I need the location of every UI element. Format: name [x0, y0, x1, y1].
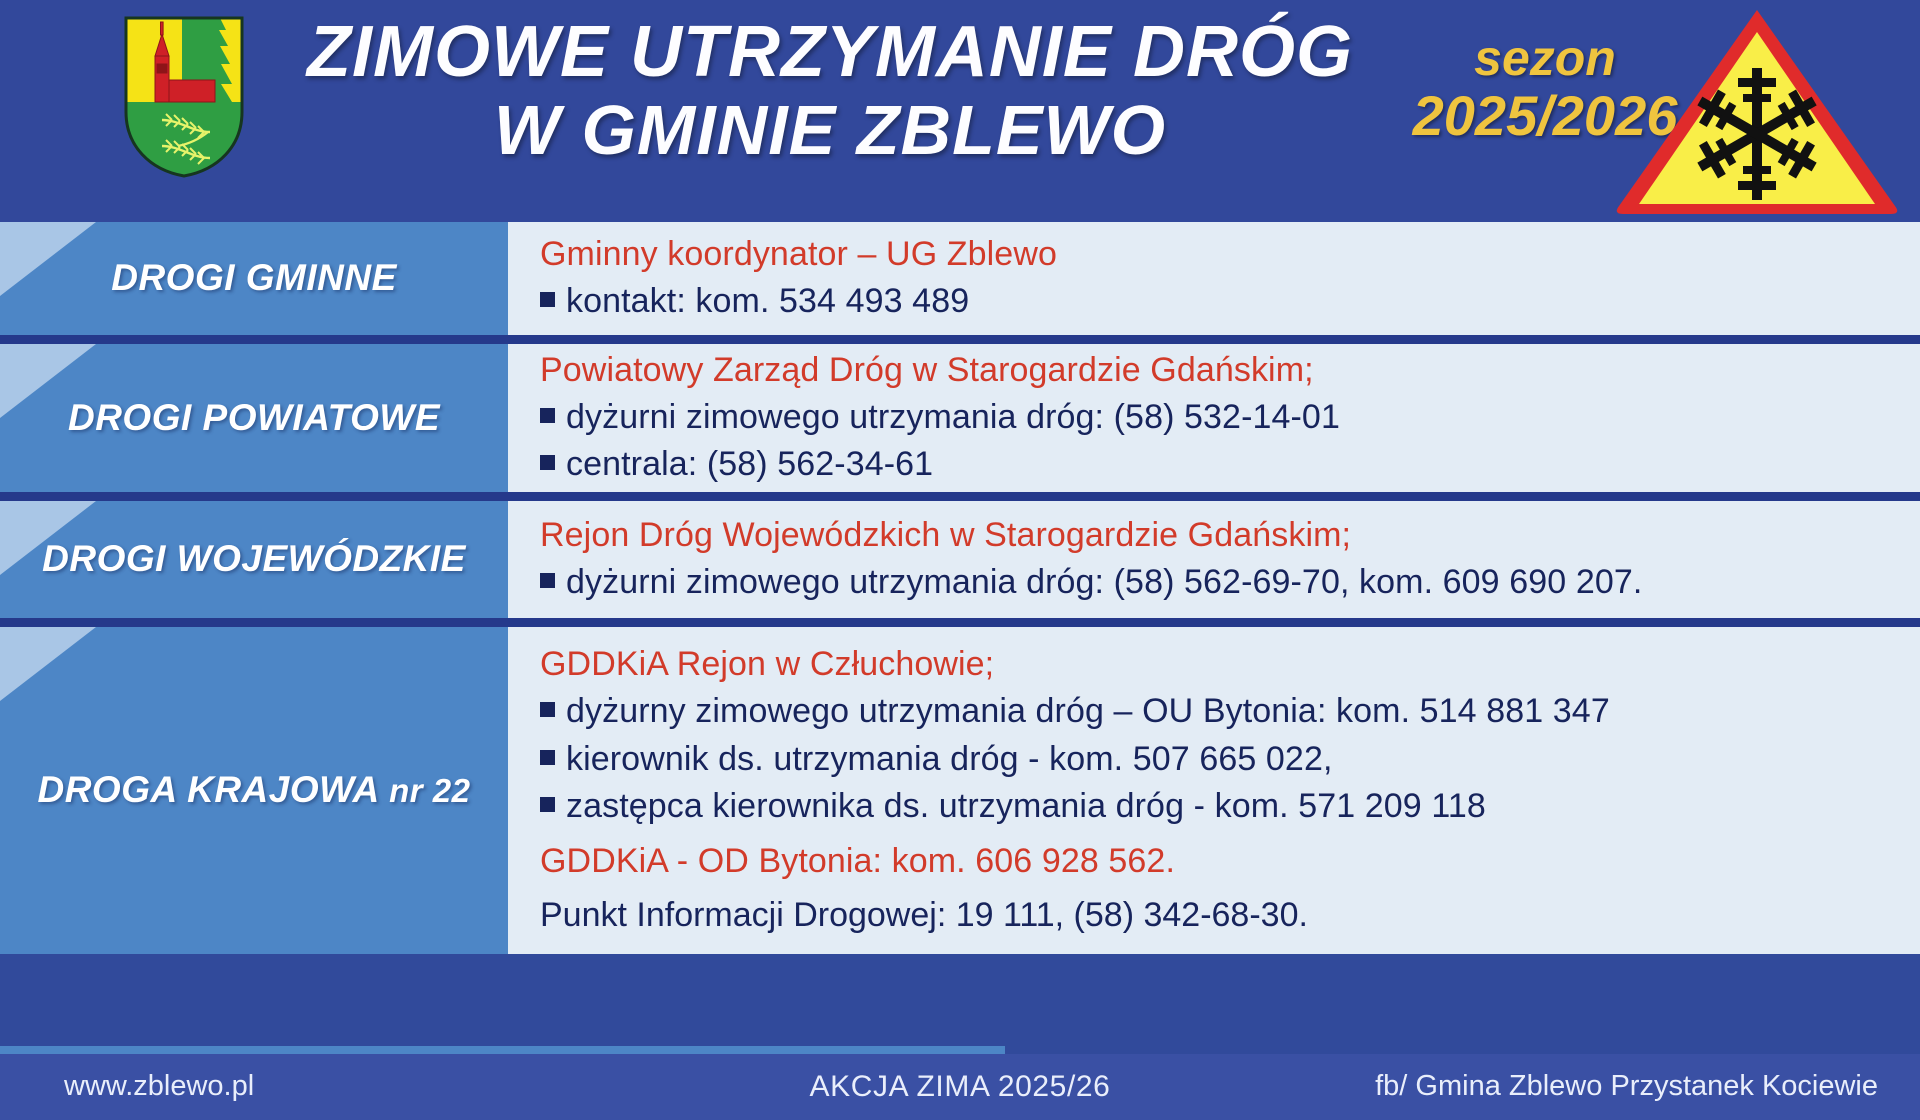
square-bullet-icon [540, 455, 555, 470]
content-heading: Rejon Dróg Wojewódzkich w Starogardzie G… [538, 512, 1896, 559]
poster-title: ZIMOWE UTRZYMANIE DRÓG W GMINIE ZBLEWO [300, 16, 1360, 167]
row-content: Powiatowy Zarząd Dróg w Starogardzie Gda… [508, 344, 1920, 492]
spacer [538, 885, 1896, 892]
content-bullet-text: centrala: (58) 562-34-61 [566, 441, 933, 489]
square-bullet-icon [540, 292, 555, 307]
square-bullet-icon [540, 702, 555, 717]
corner-notch [0, 627, 96, 701]
square-bullet-icon [540, 797, 555, 812]
row-label-suffix: nr 22 [389, 772, 470, 809]
content-bullet-text: kierownik ds. utrzymania dróg - kom. 507… [566, 736, 1333, 784]
square-bullet-icon [540, 573, 555, 588]
content-bullet-text: kontakt: kom. 534 493 489 [566, 278, 969, 326]
table-row: DROGI WOJEWÓDZKIE Rejon Dróg Wojewódzkic… [0, 501, 1920, 618]
row-label-drogi-powiatowe: DROGI POWIATOWE [0, 344, 508, 492]
row-separator [0, 618, 1920, 627]
content-heading: Gminny koordynator – UG Zblewo [538, 231, 1896, 278]
row-content: GDDKiA Rejon w Człuchowie; dyżurny zimow… [508, 627, 1920, 954]
row-label-main: DROGA KRAJOWA [37, 769, 378, 810]
poster-footer: www.zblewo.pl AKCJA ZIMA 2025/26 fb/ Gmi… [0, 1054, 1920, 1120]
row-label-text: DROGA KRAJOWA nr 22 [27, 770, 480, 811]
row-label-drogi-gminne: DROGI GMINNE [0, 222, 508, 335]
content-bullet-line: dyżurni zimowego utrzymania dróg: (58) 5… [538, 394, 1896, 442]
row-separator [0, 335, 1920, 344]
content-extra-navy: Punkt Informacji Drogowej: 19 111, (58) … [538, 892, 1896, 940]
content-extra-red: GDDKiA - OD Bytonia: kom. 606 928 562. [538, 838, 1896, 885]
content-bullet-line: dyżurni zimowego utrzymania dróg: (58) 5… [538, 559, 1896, 607]
content-heading: Powiatowy Zarząd Dróg w Starogardzie Gda… [538, 347, 1896, 394]
spacer [538, 831, 1896, 838]
row-label-text: DROGI POWIATOWE [58, 398, 450, 439]
content-bullet-text: dyżurni zimowego utrzymania dróg: (58) 5… [566, 559, 1642, 607]
row-separator [0, 492, 1920, 501]
poster-header: ZIMOWE UTRZYMANIE DRÓG W GMINIE ZBLEWO s… [0, 0, 1920, 222]
content-heading: GDDKiA Rejon w Człuchowie; [538, 641, 1896, 688]
content-bullet-line: kierownik ds. utrzymania dróg - kom. 507… [538, 736, 1896, 784]
content-bullet-text: zastępca kierownika ds. utrzymania dróg … [566, 783, 1486, 831]
winter-road-maintenance-poster: ZIMOWE UTRZYMANIE DRÓG W GMINIE ZBLEWO s… [0, 0, 1920, 1120]
content-bullet-line: zastępca kierownika ds. utrzymania dróg … [538, 783, 1896, 831]
footer-facebook[interactable]: fb/ Gmina Zblewo Przystanek Kociewie [1375, 1070, 1878, 1103]
slippery-snow-warning-sign-icon [1613, 2, 1901, 214]
row-content: Rejon Dróg Wojewódzkich w Starogardzie G… [508, 501, 1920, 618]
content-bullet-line: kontakt: kom. 534 493 489 [538, 278, 1896, 326]
content-bullet-line: dyżurny zimowego utrzymania dróg – OU By… [538, 688, 1896, 736]
square-bullet-icon [540, 408, 555, 423]
title-line-1: ZIMOWE UTRZYMANIE DRÓG [300, 16, 1360, 89]
row-label-text: DROGI GMINNE [101, 258, 407, 299]
content-bullet-line: centrala: (58) 562-34-61 [538, 441, 1896, 489]
content-bullet-text: dyżurni zimowego utrzymania dróg: (58) 5… [566, 394, 1340, 442]
table-row: DROGI GMINNE Gminny koordynator – UG Zbl… [0, 222, 1920, 335]
title-line-2: W GMINIE ZBLEWO [300, 95, 1360, 166]
row-label-text: DROGI WOJEWÓDZKIE [32, 539, 476, 580]
content-bullet-text: dyżurny zimowego utrzymania dróg – OU By… [566, 688, 1610, 736]
zblewo-coat-of-arms-icon [122, 14, 246, 180]
row-content: Gminny koordynator – UG Zblewo kontakt: … [508, 222, 1920, 335]
table-row: DROGA KRAJOWA nr 22 GDDKiA Rejon w Człuc… [0, 627, 1920, 954]
row-label-droga-krajowa-22: DROGA KRAJOWA nr 22 [0, 627, 508, 954]
row-label-drogi-wojewodzkie: DROGI WOJEWÓDZKIE [0, 501, 508, 618]
table-row: DROGI POWIATOWE Powiatowy Zarząd Dróg w … [0, 344, 1920, 492]
roads-table: DROGI GMINNE Gminny koordynator – UG Zbl… [0, 222, 1920, 1054]
corner-notch [0, 222, 96, 296]
square-bullet-icon [540, 750, 555, 765]
